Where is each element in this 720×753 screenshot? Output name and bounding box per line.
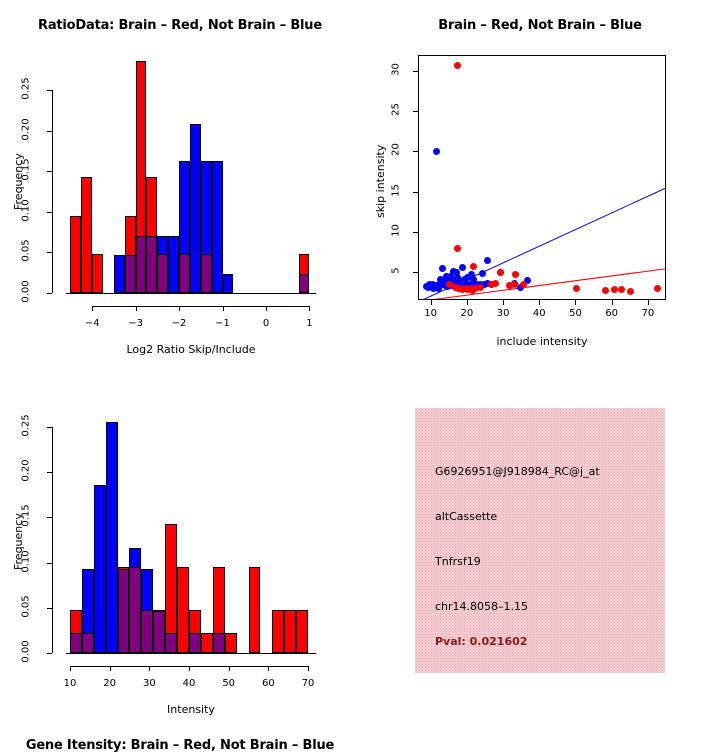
scatter-xticklabel: 30 (483, 308, 523, 319)
ratio_histogram-bar-overlap (146, 236, 157, 293)
scatter-point (492, 280, 499, 287)
ratio_histogram-xticklabel: −4 (72, 318, 112, 329)
scatter-xtick (575, 300, 576, 305)
ratio_histogram-bar-brain (81, 177, 92, 293)
ratio_histogram-ytick (47, 90, 52, 91)
intensity_histogram-ytick (47, 427, 52, 428)
scatter-point (512, 271, 519, 278)
intensity_histogram-bar-brain (177, 567, 189, 653)
scatter-point (484, 257, 491, 264)
scatter-xticklabel: 60 (592, 308, 632, 319)
locus-text: chr14.8058–1.15 (435, 600, 528, 613)
ratio_histogram-xtick (136, 306, 137, 311)
ratio_histogram-ytick (47, 171, 52, 172)
intensity_histogram-yaxis (52, 427, 53, 653)
ratio_histogram-ytick (47, 131, 52, 132)
scatter-xticklabel: 50 (555, 308, 595, 319)
intensity_histogram-bar-notbrain (106, 422, 118, 653)
ratio_histogram-bar-overlap (157, 254, 168, 293)
intensity_histogram-xtick (149, 666, 150, 671)
intensity_histogram-bar-overlap (165, 633, 177, 653)
scatter-point (602, 287, 609, 294)
ratio_histogram-xtick (92, 306, 93, 311)
ratio_histogram-yticklabel: 0.10 (21, 193, 32, 227)
ratio_histogram-bar-overlap (179, 254, 190, 293)
intensity_histogram-bar-overlap (213, 633, 225, 653)
intensity_histogram-bar-notbrain (94, 485, 106, 653)
ratio_histogram-yticklabel: 0.15 (21, 153, 32, 187)
intensity_histogram-ytick (47, 563, 52, 564)
intensity_histogram-bar-overlap (118, 569, 130, 653)
gene-info-box: G6926951@J918984_RC@j_at altCassette Tnf… (415, 408, 665, 673)
pval-text: Pval: 0.021602 (435, 635, 527, 648)
scatter-point (654, 285, 661, 292)
scatter-point (497, 269, 504, 276)
intensity_histogram-xticklabel: 20 (90, 678, 130, 689)
ratio_histogram-bar-overlap (299, 274, 310, 293)
intensity_histogram-xtick (308, 666, 309, 671)
scatter-ytick (413, 192, 418, 193)
gene-symbol-text: Tnfrsf19 (435, 555, 481, 568)
ratio_histogram-ytick (47, 252, 52, 253)
ratio_histogram-xticklabel: 0 (246, 318, 286, 329)
intensity-histogram-xlabel: Intensity (6, 703, 376, 716)
intensity_histogram-bar-overlap (129, 567, 141, 653)
ratio_histogram-bar-notbrain (223, 274, 234, 293)
ratio_histogram-xaxis (92, 306, 309, 307)
scatter-ytick (413, 111, 418, 112)
intensity_histogram-xticklabel: 50 (209, 678, 249, 689)
intensity_histogram-bar-overlap (70, 633, 82, 653)
intensity_histogram-xtick (189, 666, 190, 671)
scatter-point (433, 148, 440, 155)
intensity_histogram-xticklabel: 60 (248, 678, 288, 689)
scatter-xticklabel: 20 (447, 308, 487, 319)
ratio_histogram-yticklabel: 0.25 (21, 72, 32, 106)
scatter-point (439, 265, 446, 272)
ratio_histogram-xticklabel: 1 (289, 318, 329, 329)
ratio_histogram-yaxis (52, 90, 53, 293)
intensity_histogram-xtick (268, 666, 269, 671)
scatter-yticklabel: 20 (391, 138, 402, 162)
scatter-point (454, 245, 461, 252)
intensity_histogram-bar-overlap (153, 611, 165, 653)
ratio_histogram-bar-brain (70, 216, 81, 293)
scatter-title: Brain – Red, Not Brain – Blue (360, 18, 720, 33)
scatter-xticklabel: 70 (628, 308, 668, 319)
intensity_histogram-bar-brain (272, 610, 284, 653)
intensity_histogram-bar-brain (249, 567, 261, 653)
event-type-text: altCassette (435, 510, 497, 523)
scatter-yticklabel: 30 (391, 58, 402, 82)
ratio_histogram-yticklabel: 0.00 (21, 275, 32, 309)
scatter-point (454, 62, 461, 69)
intensity_histogram-xticklabel: 10 (50, 678, 90, 689)
ratio_histogram-xticklabel: −1 (203, 318, 243, 329)
scatter-ytick (413, 71, 418, 72)
scatter-yticklabel: 5 (391, 258, 402, 282)
intensity_histogram-yticklabel: 0.20 (21, 454, 32, 488)
scatter-ytick (413, 151, 418, 152)
intensity_histogram-ytick (47, 653, 52, 654)
ratio_histogram-baseline (66, 293, 316, 294)
intensity_histogram-yticklabel: 0.25 (21, 409, 32, 443)
scatter-point (459, 264, 466, 271)
figure-canvas: RatioData: Brain – Red, Not Brain – Blue… (0, 0, 720, 720)
probe-id-text: G6926951@J918984_RC@j_at (435, 465, 600, 478)
intensity_histogram-xtick (110, 666, 111, 671)
intensity_histogram-bar-overlap (141, 610, 153, 653)
scatter-ytick (413, 232, 418, 233)
scatter-ytick (413, 272, 418, 273)
ratio-histogram-xlabel: Log2 Ratio Skip/Include (6, 343, 376, 356)
scatter-xtick (612, 300, 613, 305)
ratio_histogram-bar-overlap (125, 255, 136, 293)
scatter-yticklabel: 25 (391, 98, 402, 122)
ratio_histogram-xtick (179, 306, 180, 311)
ratio_histogram-yticklabel: 0.05 (21, 234, 32, 268)
intensity_histogram-ytick (47, 608, 52, 609)
scatter-point (573, 285, 580, 292)
scatter-frame (418, 55, 666, 300)
intensity_histogram-yticklabel: 0.00 (21, 635, 32, 669)
ratio_histogram-bar-notbrain (168, 236, 179, 293)
intensity_histogram-xticklabel: 70 (288, 678, 328, 689)
panel-intensity-histogram: Gene Itensity: Brain – Red, Not Brain – … (0, 360, 360, 720)
ratio_histogram-bar-notbrain (212, 161, 223, 293)
intensity_histogram-xticklabel: 30 (129, 678, 169, 689)
ratio_histogram-bar-brain (92, 254, 103, 293)
intensity_histogram-bar-brain (201, 633, 213, 653)
scatter-yticklabel: 15 (391, 178, 402, 202)
scatter-xtick (539, 300, 540, 305)
scatter-ylabel: skip intensity (374, 144, 387, 217)
scatter-xtick (467, 300, 468, 305)
ratio_histogram-ytick (47, 212, 52, 213)
scatter-xlabel: include intensity (358, 335, 720, 348)
intensity_histogram-xtick (70, 666, 71, 671)
ratio_histogram-xticklabel: −3 (116, 318, 156, 329)
panel-scatter: Brain – Red, Not Brain – Blue skip inten… (360, 0, 720, 360)
ratio_histogram-yticklabel: 0.20 (21, 112, 32, 146)
intensity_histogram-xtick (229, 666, 230, 671)
ratio_histogram-bar-notbrain (190, 124, 201, 293)
intensity_histogram-yticklabel: 0.15 (21, 499, 32, 533)
panel-ratio-histogram: RatioData: Brain – Red, Not Brain – Blue… (0, 0, 360, 360)
scatter-point (627, 288, 634, 295)
scatter-xticklabel: 10 (411, 308, 451, 319)
scatter-xtick (503, 300, 504, 305)
intensity_histogram-bar-overlap (82, 633, 94, 653)
intensity_histogram-bar-overlap (189, 633, 201, 653)
ratio_histogram-bar-overlap (136, 236, 147, 293)
intensity_histogram-ytick (47, 472, 52, 473)
intensity_histogram-bar-brain (296, 610, 308, 653)
ratio_histogram-bar-overlap (201, 254, 212, 293)
ratio_histogram-xtick (223, 306, 224, 311)
ratio_histogram-bar-notbrain (114, 255, 125, 293)
ratio_histogram-xtick (309, 306, 310, 311)
intensity-histogram-title: Gene Itensity: Brain – Red, Not Brain – … (0, 738, 360, 753)
scatter-point (479, 270, 486, 277)
intensity_histogram-yticklabel: 0.05 (21, 589, 32, 623)
scatter-yticklabel: 10 (391, 218, 402, 242)
ratio_histogram-xticklabel: −2 (159, 318, 199, 329)
ratio-histogram-title: RatioData: Brain – Red, Not Brain – Blue (0, 18, 360, 33)
intensity_histogram-baseline (66, 653, 316, 654)
scatter-point (477, 284, 484, 291)
intensity_histogram-xticklabel: 40 (169, 678, 209, 689)
scatter-point (611, 286, 618, 293)
intensity_histogram-bar-brain (225, 633, 237, 653)
ratio_histogram-xtick (266, 306, 267, 311)
scatter-point (470, 263, 477, 270)
scatter-xtick (431, 300, 432, 305)
intensity_histogram-bar-brain (284, 610, 296, 653)
panel-gene-info: G6926951@J918984_RC@j_at altCassette Tnf… (360, 360, 720, 720)
scatter-point (618, 286, 625, 293)
scatter-xtick (648, 300, 649, 305)
intensity_histogram-ytick (47, 517, 52, 518)
scatter-xticklabel: 40 (519, 308, 559, 319)
ratio_histogram-ytick (47, 293, 52, 294)
intensity_histogram-yticklabel: 0.10 (21, 544, 32, 578)
